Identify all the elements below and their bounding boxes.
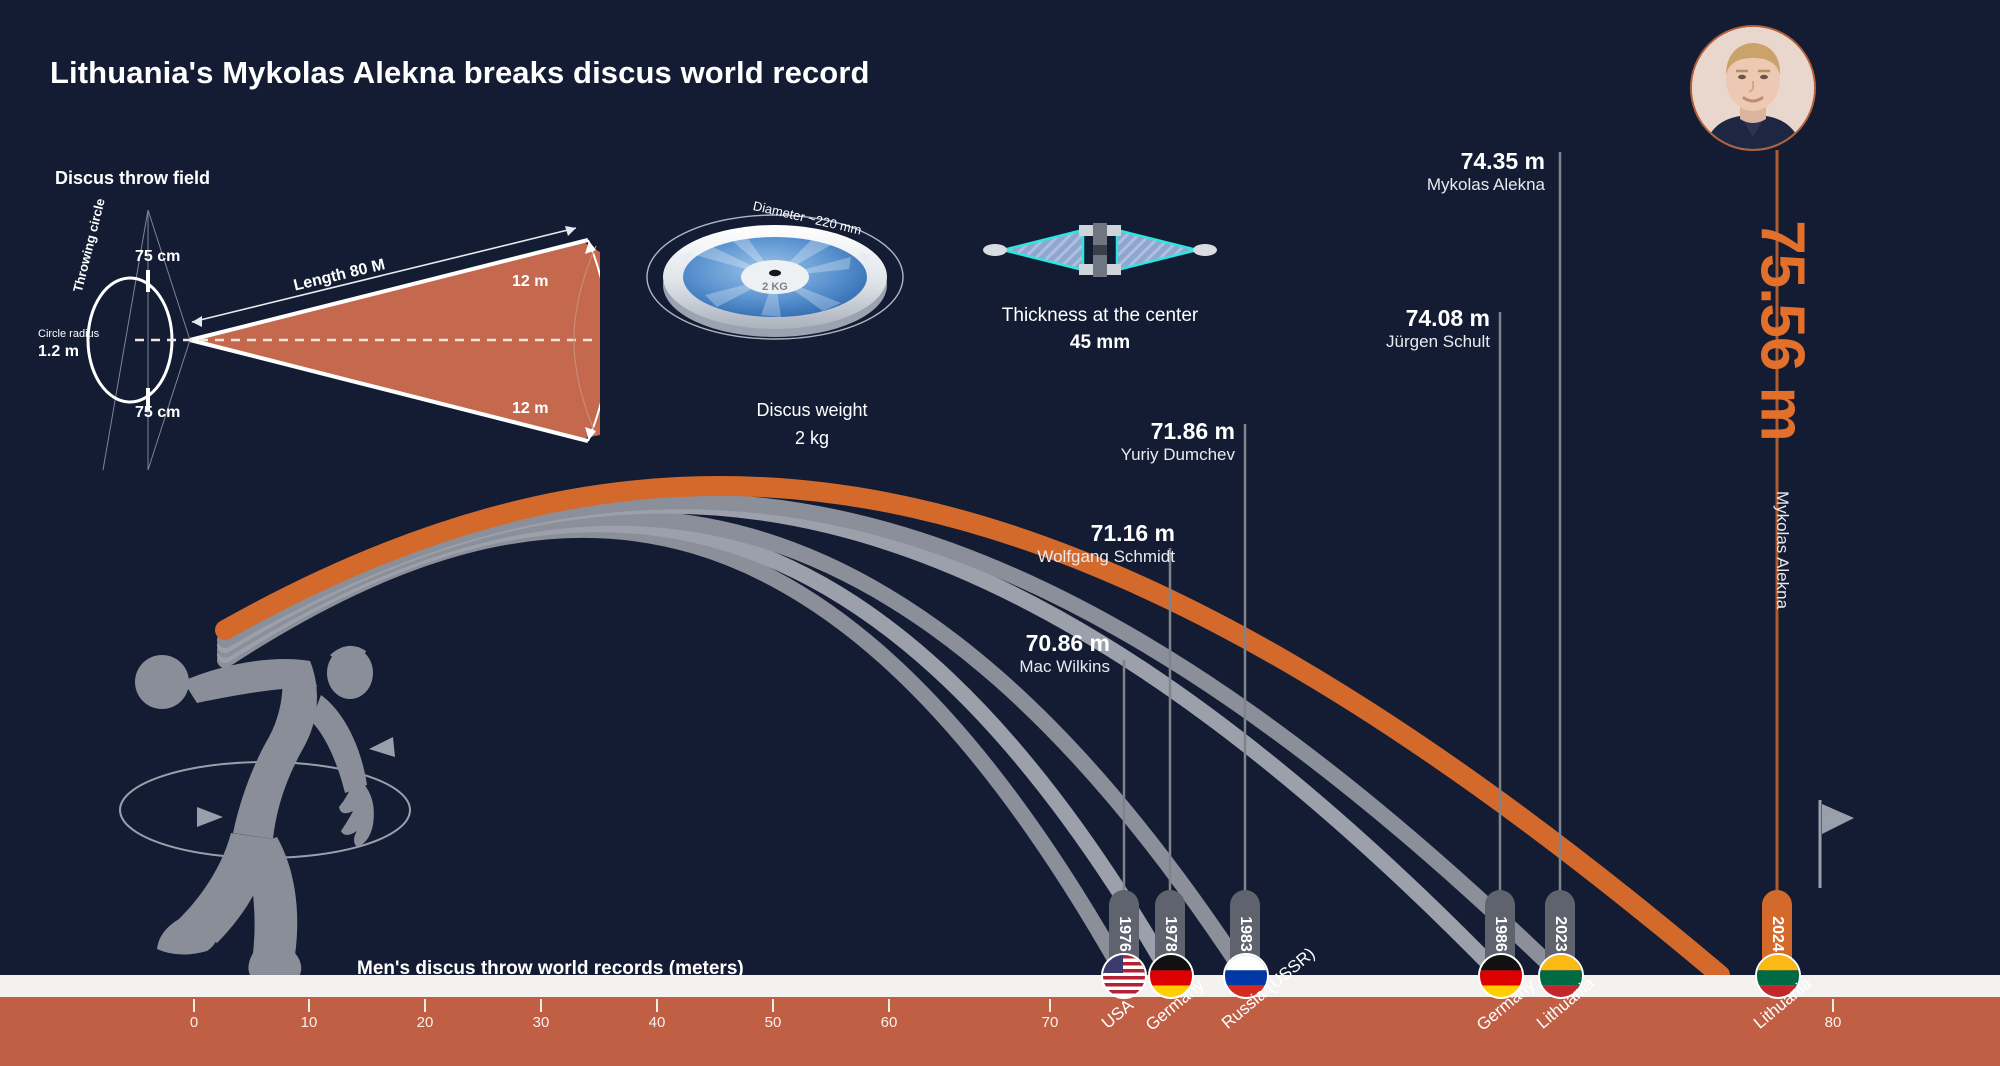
callout-value: 70.86 m <box>910 630 1110 657</box>
callout-yuriy-dumchev: 71.86 m Yuriy Dumchev <box>990 418 1235 465</box>
axis-tick <box>1832 999 1834 1012</box>
callout-athlete: Jürgen Schult <box>1245 332 1490 352</box>
axis-tick-label: 60 <box>881 1014 898 1031</box>
axis-tick <box>772 999 774 1012</box>
year-pill-label: 1983 <box>1236 916 1254 952</box>
callout-athlete: Wolfgang Schmidt <box>880 547 1175 567</box>
axis-tick-label: 70 <box>1042 1014 1059 1031</box>
axis-white-strip <box>0 975 2000 997</box>
year-pill-label: 2024 <box>1768 916 1786 952</box>
callout-value: 71.16 m <box>880 520 1175 547</box>
year-pill-label: 1978 <box>1161 916 1179 952</box>
axis-tick <box>656 999 658 1012</box>
axis-tick <box>888 999 890 1012</box>
callout-value: 71.86 m <box>990 418 1235 445</box>
axis-tick-label: 10 <box>301 1014 318 1031</box>
callout-value: 74.08 m <box>1245 305 1490 332</box>
callout-athlete: Mykolas Alekna <box>1300 175 1545 195</box>
year-pill-label: 2023 <box>1551 916 1569 952</box>
axis-tick <box>193 999 195 1012</box>
callout-alekna-7435: 74.35 m Mykolas Alekna <box>1300 148 1545 195</box>
axis-tick <box>540 999 542 1012</box>
callout-athlete: Yuriy Dumchev <box>990 445 1235 465</box>
axis-tick-label: 20 <box>417 1014 434 1031</box>
infographic-root: Lithuania's Mykolas Alekna breaks discus… <box>0 0 2000 1066</box>
axis-tick-label: 0 <box>190 1014 198 1031</box>
year-pill-label: 1986 <box>1491 916 1509 952</box>
headline-record: 75.56 m Mykolas Alekna <box>1742 170 1812 600</box>
year-pill-label: 1976 <box>1115 916 1133 952</box>
axis-tick-label: 40 <box>649 1014 666 1031</box>
callout-wolfgang-schmidt: 71.16 m Wolfgang Schmidt <box>880 520 1175 567</box>
field-flag-marker <box>1810 800 1870 890</box>
callout-mac-wilkins: 70.86 m Mac Wilkins <box>910 630 1110 677</box>
flag-usa[interactable] <box>1101 953 1147 999</box>
callout-value: 74.35 m <box>1300 148 1545 175</box>
axis-tick <box>424 999 426 1012</box>
headline-record-athlete: Mykolas Alekna <box>1772 420 1792 680</box>
axis-tick-label: 50 <box>765 1014 782 1031</box>
axis-tick-label: 30 <box>533 1014 550 1031</box>
callout-athlete: Mac Wilkins <box>910 657 1110 677</box>
axis-tick <box>308 999 310 1012</box>
callout-jurgen-schult: 74.08 m Jürgen Schult <box>1245 305 1490 352</box>
axis-tick <box>1049 999 1051 1012</box>
axis-tick-label: 80 <box>1825 1014 1842 1031</box>
